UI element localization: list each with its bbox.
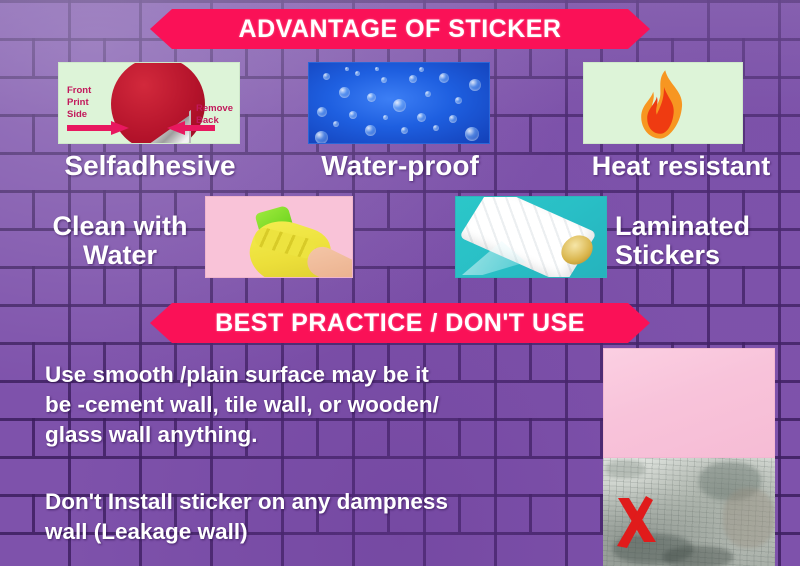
- water-drop: [375, 67, 379, 71]
- water-drop: [393, 99, 406, 112]
- water-drop: [383, 115, 388, 120]
- flame-icon: [634, 69, 694, 141]
- water-droplets-photo: [308, 62, 490, 144]
- bad-practice-text: Don't Install sticker on any dampness wa…: [45, 487, 600, 547]
- damp-patch: [605, 460, 645, 478]
- water-drop: [439, 73, 449, 83]
- red-x-marker: [613, 494, 661, 550]
- water-drop: [433, 125, 439, 131]
- front-print-side-label: Front Print Side: [67, 85, 91, 121]
- banner-best-practice-label: BEST PRACTICE / DON'T USE: [215, 309, 585, 338]
- water-drop: [455, 97, 462, 104]
- water-drop: [323, 73, 330, 80]
- good-practice-line-1: Use smooth /plain surface may be it: [45, 360, 600, 390]
- water-drop: [449, 115, 457, 123]
- water-drop: [339, 87, 350, 98]
- arrow-right-icon: [67, 121, 129, 135]
- arrow-left-icon: [167, 121, 215, 135]
- caption-clean-with-water: Clean with Water: [36, 212, 204, 269]
- water-drop: [419, 67, 424, 72]
- damp-patch: [723, 488, 775, 548]
- caption-laminated-stickers: Laminated Stickers: [615, 212, 795, 269]
- caption-heat-resistant: Heat resistant: [570, 152, 792, 181]
- water-drop: [469, 79, 481, 91]
- water-drop: [417, 113, 426, 122]
- water-drop: [345, 67, 349, 71]
- caption-laminated-line-1: Laminated: [615, 212, 795, 241]
- caption-waterproof: Water-proof: [306, 151, 494, 181]
- water-drop: [381, 77, 387, 83]
- water-drop: [349, 111, 357, 119]
- bad-practice-line-1: Don't Install sticker on any dampness: [45, 487, 600, 517]
- lamination-film-roll-photo: [455, 196, 607, 278]
- banner-best-practice-dont-use: BEST PRACTICE / DON'T USE: [150, 303, 650, 343]
- flame-icon-tile: [583, 62, 743, 144]
- caption-laminated-line-2: Stickers: [615, 241, 795, 270]
- front-print-side-line-2: Print: [67, 97, 91, 109]
- bad-practice-line-2: wall (Leakage wall): [45, 517, 600, 547]
- caption-clean-line-1: Clean with: [36, 212, 204, 241]
- caption-selfadhesive: Selfadhesive: [50, 151, 250, 181]
- water-drop: [355, 71, 360, 76]
- damp-leaking-wall-photo: [603, 458, 775, 566]
- front-print-side-line-1: Front: [67, 85, 91, 97]
- water-drop: [333, 121, 339, 127]
- banner-advantage-label: ADVANTAGE OF STICKER: [239, 15, 562, 44]
- water-drop: [365, 125, 376, 136]
- remove-back-line-1: Remove: [196, 103, 233, 115]
- water-drop: [425, 91, 431, 97]
- good-practice-line-3: glass wall anything.: [45, 420, 600, 450]
- front-print-side-line-3: Side: [67, 109, 91, 121]
- good-practice-text: Use smooth /plain surface may be it be -…: [45, 360, 600, 450]
- water-drop: [409, 75, 417, 83]
- water-drop: [367, 93, 376, 102]
- damp-patch: [663, 546, 733, 566]
- selfadhesive-sticker-diagram: Front Print Side Remove Back: [58, 62, 240, 144]
- water-drop: [465, 127, 479, 141]
- water-drop: [315, 131, 328, 144]
- water-drop: [401, 127, 408, 134]
- good-practice-line-2: be -cement wall, tile wall, or wooden/: [45, 390, 600, 420]
- caption-clean-line-2: Water: [36, 241, 204, 270]
- water-drop: [317, 107, 327, 117]
- smooth-pink-wall-photo: [603, 348, 775, 458]
- gloved-hand-with-sponge-photo: [205, 196, 353, 278]
- banner-advantage-of-sticker: ADVANTAGE OF STICKER: [150, 9, 650, 49]
